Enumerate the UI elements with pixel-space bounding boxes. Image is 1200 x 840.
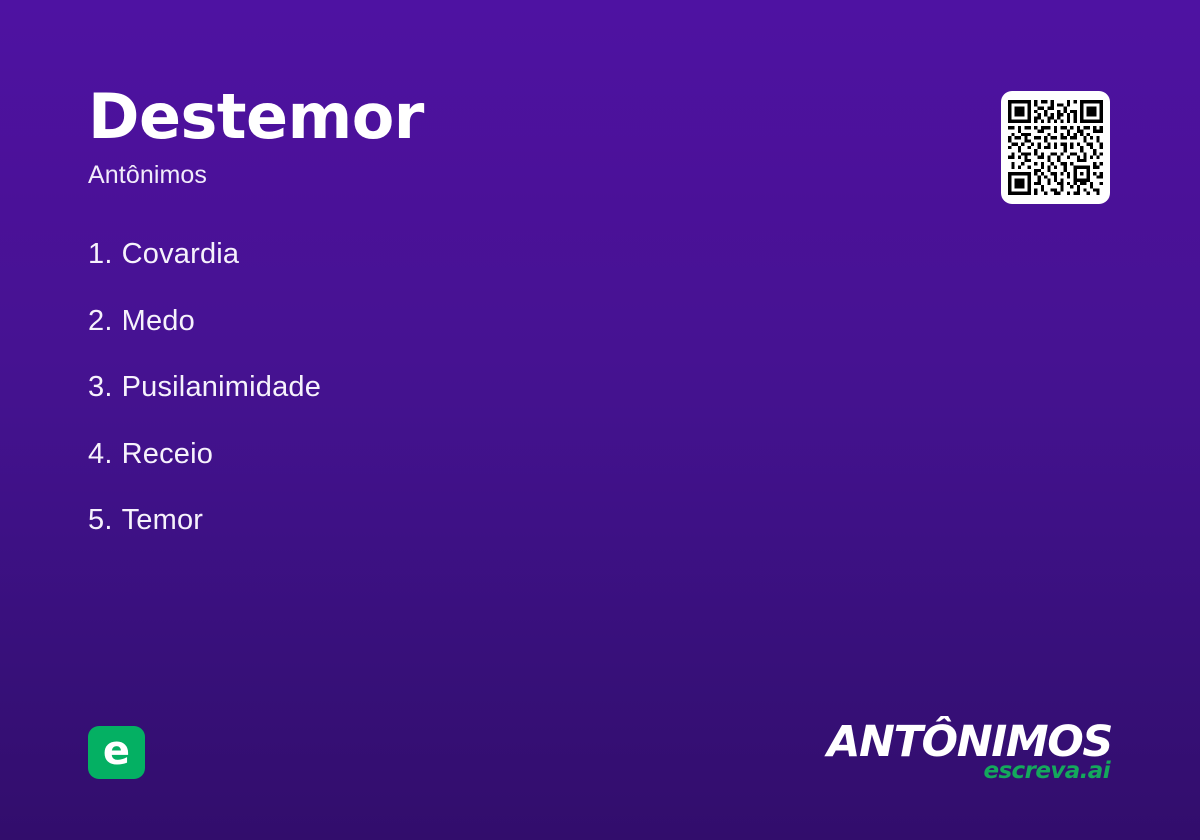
antonyms-list: 1. Covardia 2. Medo 3. Pusilanimidade 4.… [88, 238, 908, 571]
list-item-index: 2. [88, 305, 113, 338]
escreva-badge-icon[interactable]: e [88, 726, 145, 779]
page-title: Destemor [88, 86, 948, 148]
list-item-index: 3. [88, 371, 113, 404]
list-item: 1. Covardia [88, 238, 908, 305]
list-item-index: 4. [88, 438, 113, 471]
antonimos-logo[interactable]: ANTÔNIMOS escreva.ai [812, 722, 1112, 783]
logo-title: ANTÔNIMOS [812, 722, 1112, 763]
list-item-label: Temor [122, 504, 204, 537]
antonyms-card: Destemor Antônimos 1. Covardia 2. Medo 3… [0, 0, 1200, 840]
list-item-label: Medo [122, 305, 195, 338]
list-item-label: Receio [122, 438, 213, 471]
brand-badge-letter: e [103, 731, 130, 771]
list-item-index: 1. [88, 238, 113, 271]
list-item: 3. Pusilanimidade [88, 371, 908, 438]
list-item: 4. Receio [88, 438, 908, 505]
page-subtitle: Antônimos [88, 148, 948, 188]
list-item: 5. Temor [88, 504, 908, 571]
header: Destemor Antônimos [88, 86, 948, 188]
list-item-label: Covardia [122, 238, 240, 271]
qr-code-panel[interactable] [1001, 91, 1110, 204]
list-item: 2. Medo [88, 305, 908, 372]
list-item-index: 5. [88, 504, 113, 537]
qr-code-icon [1008, 100, 1103, 195]
list-item-label: Pusilanimidade [122, 371, 321, 404]
